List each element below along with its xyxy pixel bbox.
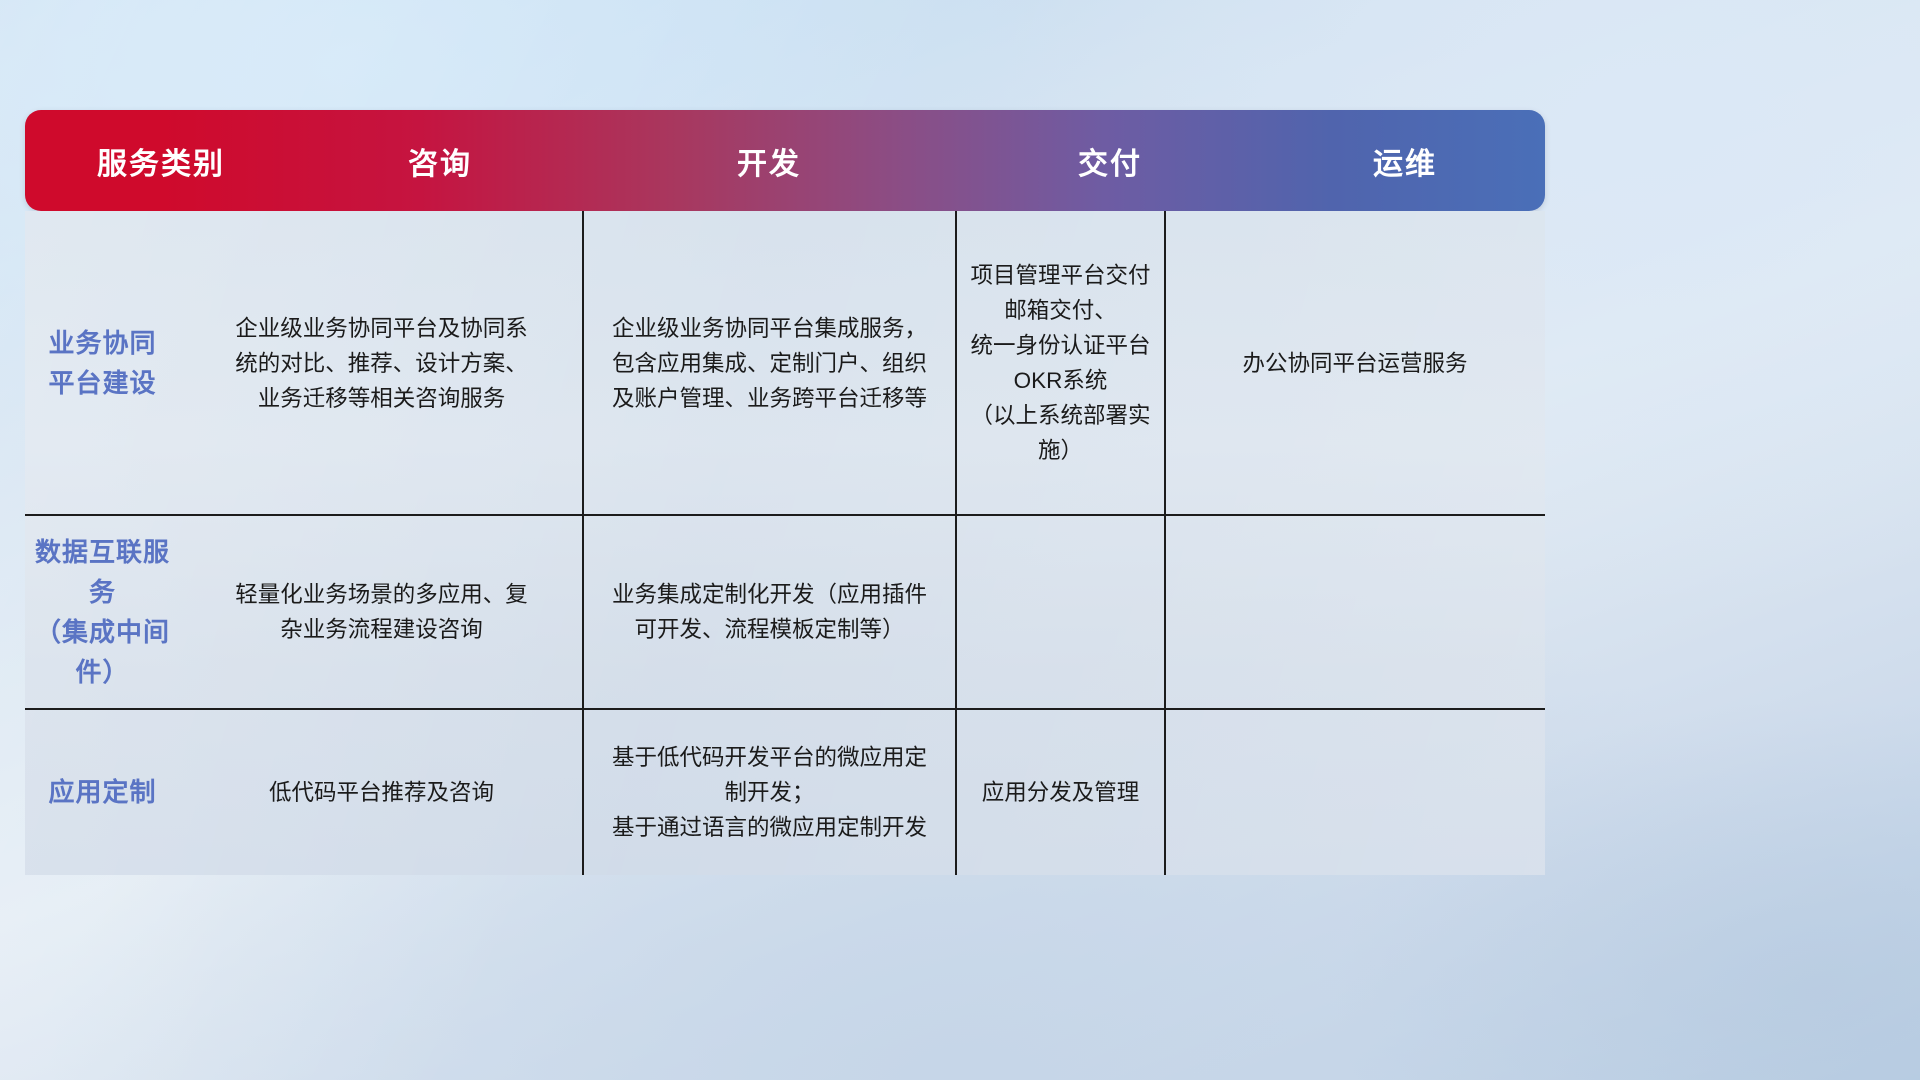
column-divider-3: [1164, 211, 1166, 875]
cell-operations: [1165, 515, 1545, 709]
row-category-label: 应用定制: [25, 709, 180, 875]
cell-delivery: 项目管理平台交付 邮箱交付、 统一身份认证平台 OKR系统 （以上系统部署实施）: [956, 211, 1165, 515]
row-category-label: 数据互联服务 （集成中间件）: [25, 515, 180, 709]
service-matrix-table: 服务类别 咨询 开发 交付 运维 业务协同 平台建设 企业级业务协同平台及协同系…: [25, 110, 1545, 875]
cell-development: 企业级业务协同平台集成服务， 包含应用集成、定制门户、组织 及账户管理、业务跨平…: [583, 211, 956, 515]
table-header-cell-development: 开发: [583, 110, 955, 211]
table-row: 数据互联服务 （集成中间件） 轻量化业务场景的多应用、复 杂业务流程建设咨询 业…: [25, 515, 1545, 709]
column-divider-1: [582, 211, 584, 875]
table-header-cell-consulting: 咨询: [297, 110, 583, 211]
column-divider-2: [955, 211, 957, 875]
cell-consulting: 轻量化业务场景的多应用、复 杂业务流程建设咨询: [180, 515, 583, 709]
cell-delivery: 应用分发及管理: [956, 709, 1165, 875]
row-divider-2: [25, 708, 1545, 710]
table-header-row: 服务类别 咨询 开发 交付 运维: [25, 110, 1545, 211]
cell-operations: [1165, 709, 1545, 875]
table-header-cell-delivery: 交付: [955, 110, 1265, 211]
cell-development: 基于低代码开发平台的微应用定 制开发； 基于通过语言的微应用定制开发: [583, 709, 956, 875]
row-category-label: 业务协同 平台建设: [25, 211, 180, 515]
table-body: 业务协同 平台建设 企业级业务协同平台及协同系 统的对比、推荐、设计方案、 业务…: [25, 211, 1545, 875]
cell-operations: 办公协同平台运营服务: [1165, 211, 1545, 515]
cell-development: 业务集成定制化开发（应用插件 可开发、流程模板定制等）: [583, 515, 956, 709]
table-header-cell-operations: 运维: [1265, 110, 1545, 211]
table-row: 业务协同 平台建设 企业级业务协同平台及协同系 统的对比、推荐、设计方案、 业务…: [25, 211, 1545, 515]
row-divider-1: [25, 514, 1545, 516]
table-row: 应用定制 低代码平台推荐及咨询 基于低代码开发平台的微应用定 制开发； 基于通过…: [25, 709, 1545, 875]
cell-consulting: 企业级业务协同平台及协同系 统的对比、推荐、设计方案、 业务迁移等相关咨询服务: [180, 211, 583, 515]
table-header-cell-category: 服务类别: [25, 110, 297, 211]
cell-delivery: [956, 515, 1165, 709]
cell-consulting: 低代码平台推荐及咨询: [180, 709, 583, 875]
